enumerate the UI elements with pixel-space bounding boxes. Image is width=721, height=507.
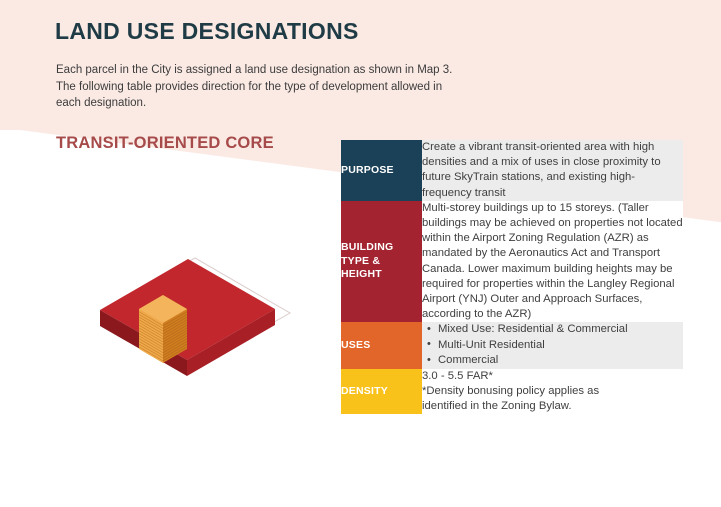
list-item: Commercial <box>438 353 683 368</box>
row-content-uses: Mixed Use: Residential & Commercial Mult… <box>422 322 683 368</box>
land-use-table: PURPOSE Create a vibrant transit-oriente… <box>341 140 683 414</box>
row-label-line: PURPOSE <box>341 164 422 178</box>
row-content-density: 3.0 - 5.5 FAR* *Density bonusing policy … <box>422 369 683 415</box>
row-label-building-type-height: BUILDING TYPE & HEIGHT <box>341 201 422 323</box>
density-line: 3.0 - 5.5 FAR* <box>422 369 683 384</box>
row-label-line: BUILDING <box>341 241 422 255</box>
density-line: identified in the Zoning Bylaw. <box>422 399 683 414</box>
row-label-line: HEIGHT <box>341 268 422 282</box>
intro-paragraph: Each parcel in the City is assigned a la… <box>56 62 486 112</box>
row-content-building-type-height: Multi-storey buildings up to 15 storeys.… <box>422 201 683 323</box>
intro-line-1: Each parcel in the City is assigned a la… <box>56 62 486 79</box>
table-row: DENSITY 3.0 - 5.5 FAR* *Density bonusing… <box>341 369 683 415</box>
table-row: PURPOSE Create a vibrant transit-oriente… <box>341 140 683 201</box>
row-label-line: USES <box>341 339 422 353</box>
page-title: LAND USE DESIGNATIONS <box>55 18 359 45</box>
table-row: BUILDING TYPE & HEIGHT Multi-storey buil… <box>341 201 683 323</box>
row-label-line: DENSITY <box>341 385 422 399</box>
row-label-density: DENSITY <box>341 369 422 415</box>
isometric-tower-svg <box>75 180 325 380</box>
row-label-uses: USES <box>341 322 422 368</box>
list-item: Multi-Unit Residential <box>438 338 683 353</box>
list-item: Mixed Use: Residential & Commercial <box>438 322 683 337</box>
row-label-line: TYPE & <box>341 255 422 269</box>
density-line: *Density bonusing policy applies as <box>422 384 683 399</box>
intro-line-2: The following table provides direction f… <box>56 79 486 96</box>
slide-canvas: LAND USE DESIGNATIONS Each parcel in the… <box>0 0 721 507</box>
land-use-illustration <box>75 180 325 380</box>
row-content-purpose: Create a vibrant transit-oriented area w… <box>422 140 683 201</box>
intro-line-3: each designation. <box>56 95 486 112</box>
row-label-purpose: PURPOSE <box>341 140 422 201</box>
designation-title: TRANSIT-ORIENTED CORE <box>56 134 274 153</box>
base-top-face <box>100 259 275 360</box>
table-row: USES Mixed Use: Residential & Commercial… <box>341 322 683 368</box>
uses-list: Mixed Use: Residential & Commercial Mult… <box>422 322 683 368</box>
